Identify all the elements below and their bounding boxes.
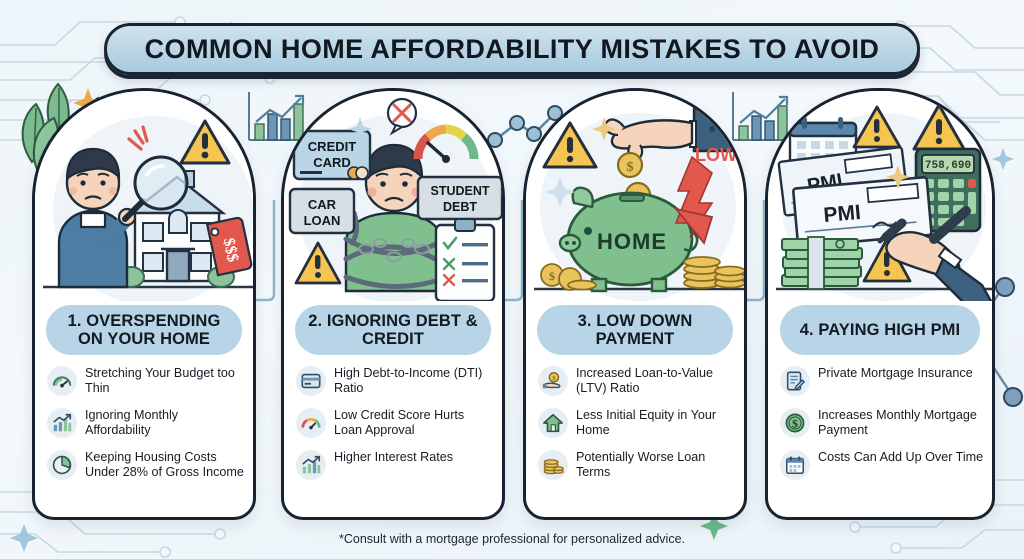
- list-item-label: Less Initial Equity in Your Home: [576, 407, 736, 438]
- list-item: Potentially Worse Loan Terms: [538, 449, 736, 480]
- title-pill: COMMON HOME AFFORDABILITY MISTAKES TO AV…: [104, 23, 920, 75]
- hand-coin-icon: $: [538, 366, 568, 396]
- card-1-heading-pill: 1. OVERSPENDING ON YOUR HOME: [46, 305, 242, 355]
- infographic-title-banner: COMMON HOME AFFORDABILITY MISTAKES TO AV…: [104, 23, 920, 75]
- list-item: Costs Can Add Up Over Time: [780, 449, 984, 480]
- card-2-heading-pill: 2. IGNORING DEBT & CREDIT: [295, 305, 491, 355]
- list-item-label: Keeping Housing Costs Under 28% of Gross…: [85, 449, 245, 480]
- svg-text:$: $: [627, 160, 634, 175]
- card-4-heading: 4. PAYING HIGH PMI: [800, 321, 960, 339]
- credit-card-icon: [296, 366, 326, 396]
- card-4-bullets: Private Mortgage Insurance $ Increases M…: [780, 365, 984, 491]
- list-item-label: Potentially Worse Loan Terms: [576, 449, 736, 480]
- pie-chart-icon: [47, 450, 77, 480]
- svg-text:$: $: [792, 417, 798, 431]
- svg-text:758,690: 758,690: [925, 160, 971, 172]
- list-item: Low Credit Score Hurts Loan Approval: [296, 407, 494, 438]
- list-item-label: Stretching Your Budget too Thin: [85, 365, 245, 396]
- svg-text:$: $: [549, 269, 555, 283]
- car-loan-label: CAR LOAN: [290, 189, 354, 233]
- page-title: COMMON HOME AFFORDABILITY MISTAKES TO AV…: [145, 34, 880, 65]
- mistake-card-2[interactable]: CREDIT CARD CAR LOAN STUDENT DEBT: [281, 88, 505, 520]
- list-item-label: Costs Can Add Up Over Time: [818, 449, 983, 465]
- bar-chart-up-icon: [47, 408, 77, 438]
- list-item: Keeping Housing Costs Under 28% of Gross…: [47, 449, 245, 480]
- list-item: High Debt-to-Income (DTI) Ratio: [296, 365, 494, 396]
- list-item: Ignoring Monthly Affordability: [47, 407, 245, 438]
- coin-stack-icon: [538, 450, 568, 480]
- bar-chart-up-icon: [296, 450, 326, 480]
- svg-text:CREDIT: CREDIT: [308, 139, 356, 154]
- house-icon: [538, 408, 568, 438]
- mistake-card-1[interactable]: $$$: [32, 88, 256, 520]
- calendar-icon: [780, 450, 810, 480]
- footer-disclaimer: *Consult with a mortgage professional fo…: [0, 532, 1024, 546]
- list-item-label: Low Credit Score Hurts Loan Approval: [334, 407, 494, 438]
- list-item: $ Increases Monthly Mortgage Payment: [780, 407, 984, 438]
- clipboard-icon: [436, 219, 494, 301]
- gauge-icon: [47, 366, 77, 396]
- list-item: Private Mortgage Insurance: [780, 365, 984, 396]
- list-item: Higher Interest Rates: [296, 449, 494, 480]
- mistake-card-4[interactable]: 758,690 PMI: [765, 88, 995, 520]
- card-2-bullets: High Debt-to-Income (DTI) Ratio Low Cred…: [296, 365, 494, 491]
- card-4-illustration: 758,690 PMI: [768, 91, 992, 301]
- svg-text:LOAN: LOAN: [304, 213, 341, 228]
- list-item: $ Increased Loan-to-Value (LTV) Ratio: [538, 365, 736, 396]
- svg-text:CAR: CAR: [308, 197, 337, 212]
- footer-note: *Consult with a mortgage professional fo…: [339, 532, 685, 546]
- svg-text:STUDENT: STUDENT: [430, 184, 489, 198]
- list-item-label: High Debt-to-Income (DTI) Ratio: [334, 365, 494, 396]
- card-2-illustration: CREDIT CARD CAR LOAN STUDENT DEBT: [284, 91, 502, 301]
- svg-text:LOW: LOW: [695, 145, 737, 165]
- credit-gauge-icon: [296, 408, 326, 438]
- dollar-coin-icon: $: [780, 408, 810, 438]
- cash-stack: [782, 237, 862, 289]
- card-3-bullets: $ Increased Loan-to-Value (LTV) Ratio Le…: [538, 365, 736, 491]
- list-item-label: Increased Loan-to-Value (LTV) Ratio: [576, 365, 736, 396]
- card-1-heading: 1. OVERSPENDING ON YOUR HOME: [54, 312, 234, 349]
- list-item-label: Increases Monthly Mortgage Payment: [818, 407, 984, 438]
- card-3-illustration: $ $ HOME: [526, 91, 744, 301]
- list-item-label: Private Mortgage Insurance: [818, 365, 973, 381]
- svg-text:DEBT: DEBT: [443, 200, 477, 214]
- svg-text:HOME: HOME: [597, 229, 667, 254]
- card-1-illustration: $$$: [35, 91, 253, 301]
- card-2-heading: 2. IGNORING DEBT & CREDIT: [303, 312, 483, 349]
- card-1-bullets: Stretching Your Budget too Thin Ignoring…: [47, 365, 245, 491]
- card-3-heading-pill: 3. LOW DOWN PAYMENT: [537, 305, 733, 355]
- document-pen-icon: [780, 366, 810, 396]
- mistake-card-3[interactable]: $ $ HOME: [523, 88, 747, 520]
- svg-text:CARD: CARD: [313, 155, 351, 170]
- svg-text:PMI: PMI: [823, 201, 862, 227]
- list-item: Stretching Your Budget too Thin: [47, 365, 245, 396]
- student-debt-label: STUDENT DEBT: [418, 177, 502, 219]
- card-4-heading-pill: 4. PAYING HIGH PMI: [780, 305, 980, 355]
- list-item-label: Ignoring Monthly Affordability: [85, 407, 245, 438]
- infographic-canvas: $: [0, 0, 1024, 559]
- credit-card-label: CREDIT CARD: [294, 131, 370, 179]
- list-item: Less Initial Equity in Your Home: [538, 407, 736, 438]
- list-item-label: Higher Interest Rates: [334, 449, 453, 465]
- card-3-heading: 3. LOW DOWN PAYMENT: [545, 312, 725, 349]
